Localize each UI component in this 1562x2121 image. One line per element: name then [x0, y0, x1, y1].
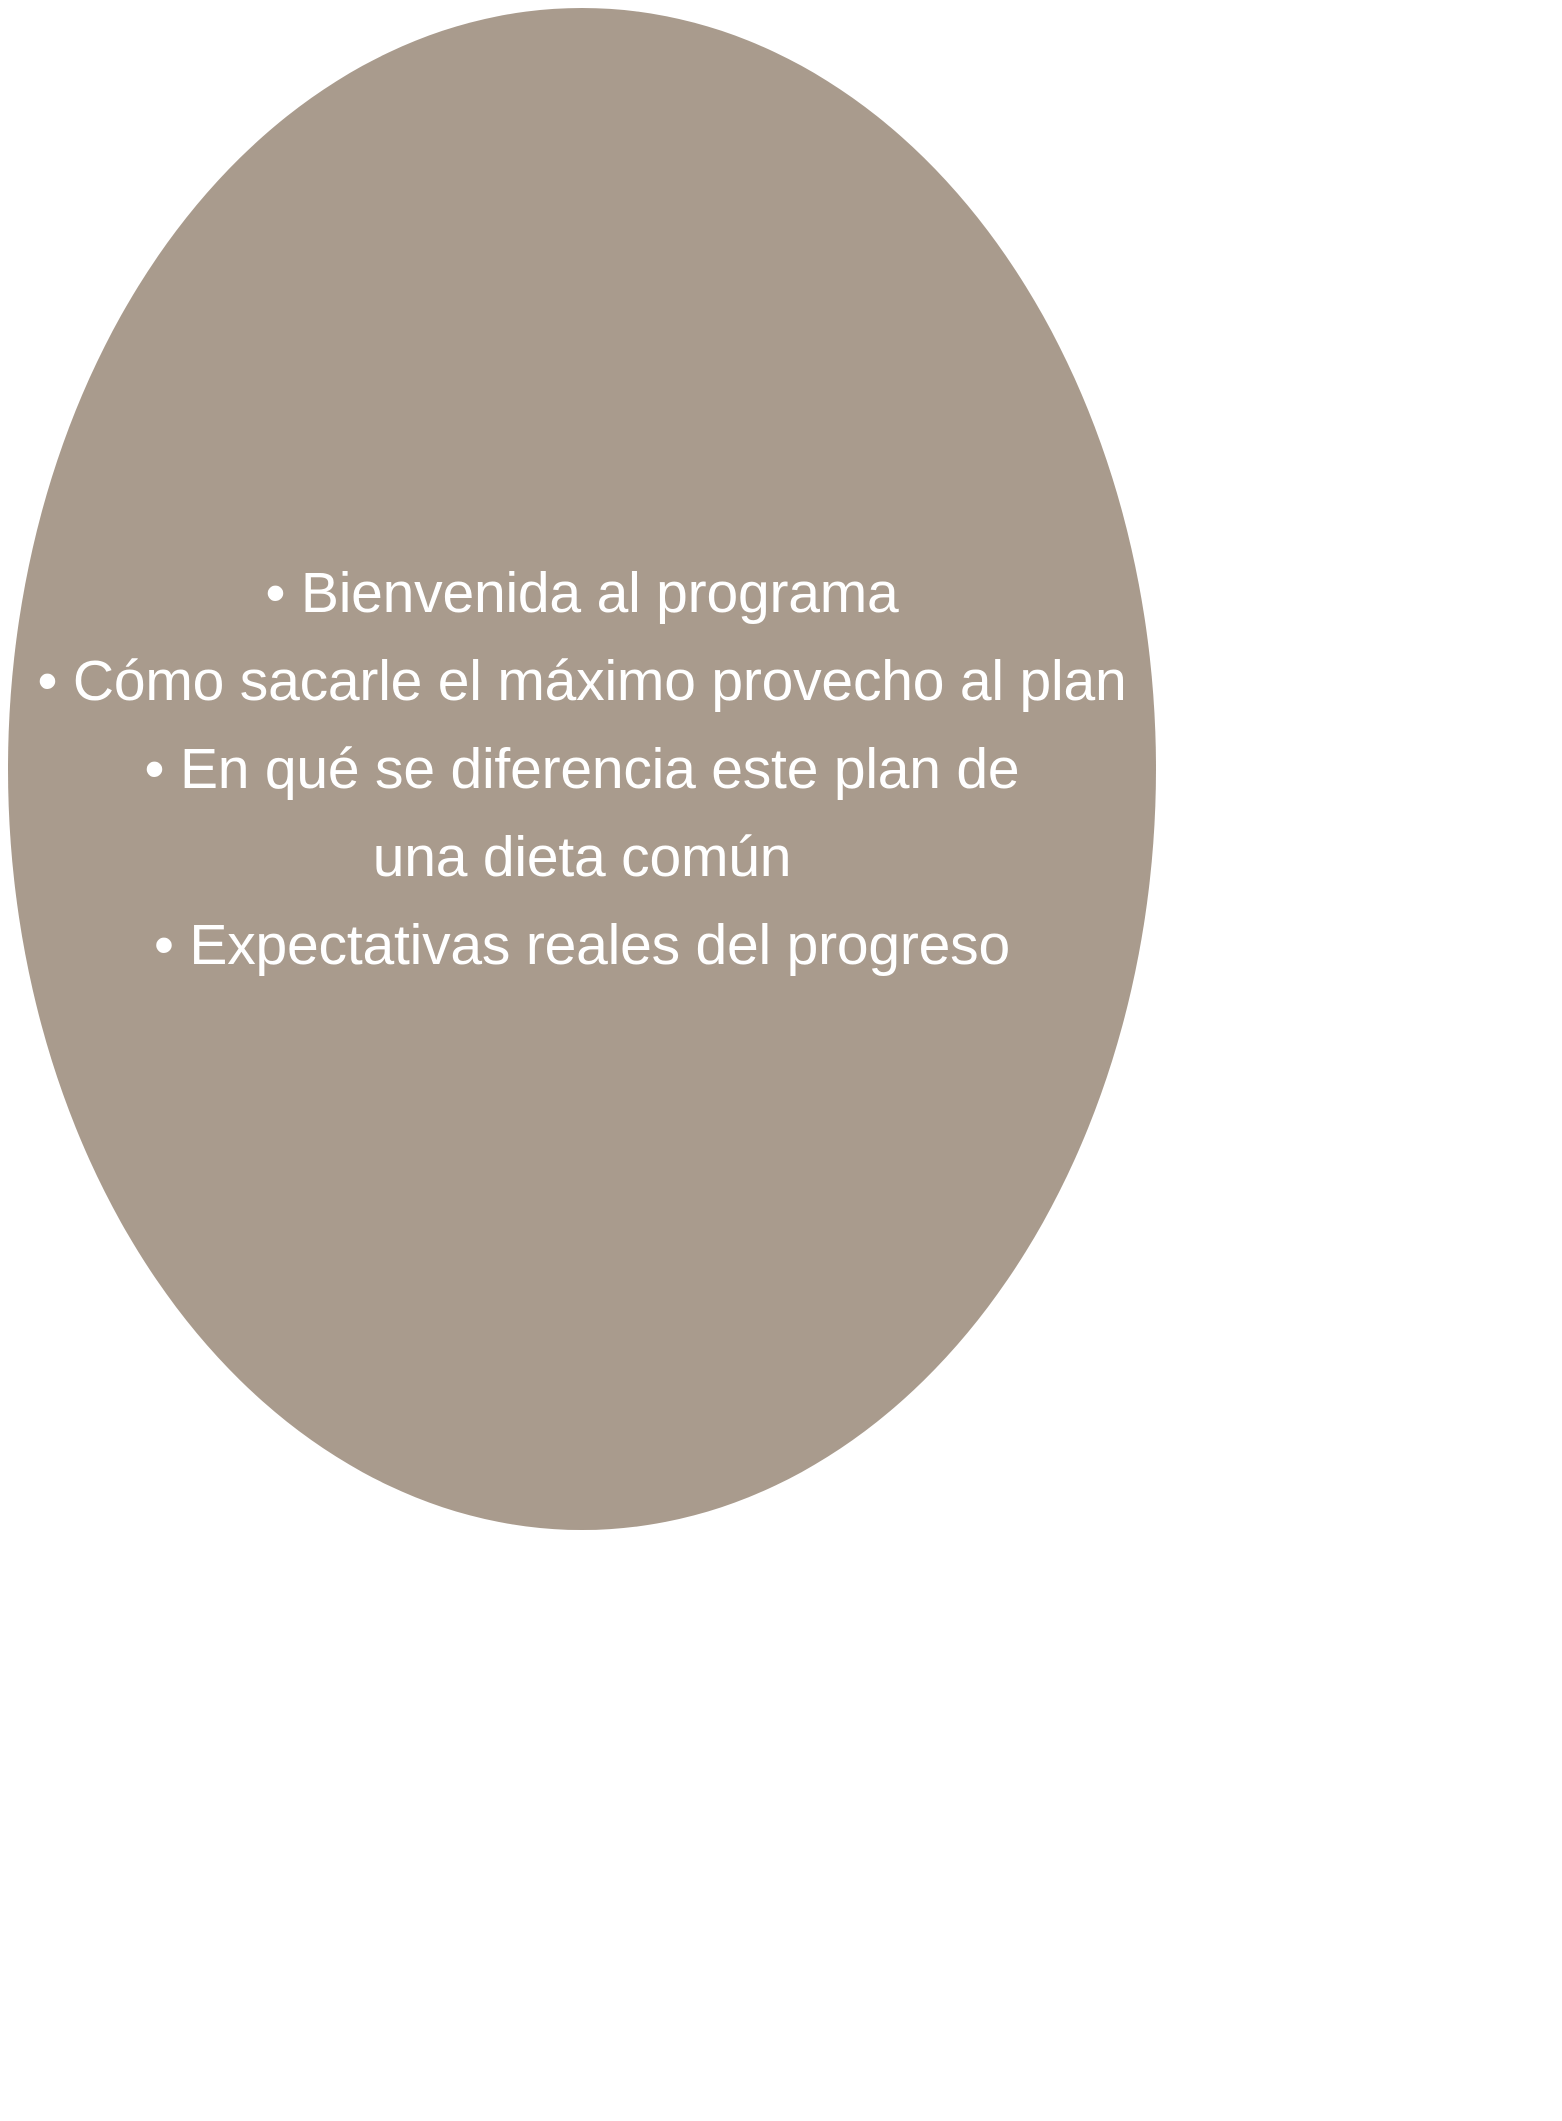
topic-card: • Bienvenida al programa • Cómo sacarle …: [8, 8, 1156, 1530]
topic-list: • Bienvenida al programa • Cómo sacarle …: [8, 549, 1156, 989]
slide-root: • Bienvenida al programa • Cómo sacarle …: [0, 0, 1562, 2121]
topic-line-3: • En qué se diferencia este plan de: [36, 725, 1128, 813]
topic-line-5: • Expectativas reales del progreso: [36, 901, 1128, 989]
topic-line-2: • Cómo sacarle el máximo provecho al pla…: [36, 637, 1128, 725]
topic-line-4: una dieta común: [36, 813, 1128, 901]
topic-line-1: • Bienvenida al programa: [36, 549, 1128, 637]
